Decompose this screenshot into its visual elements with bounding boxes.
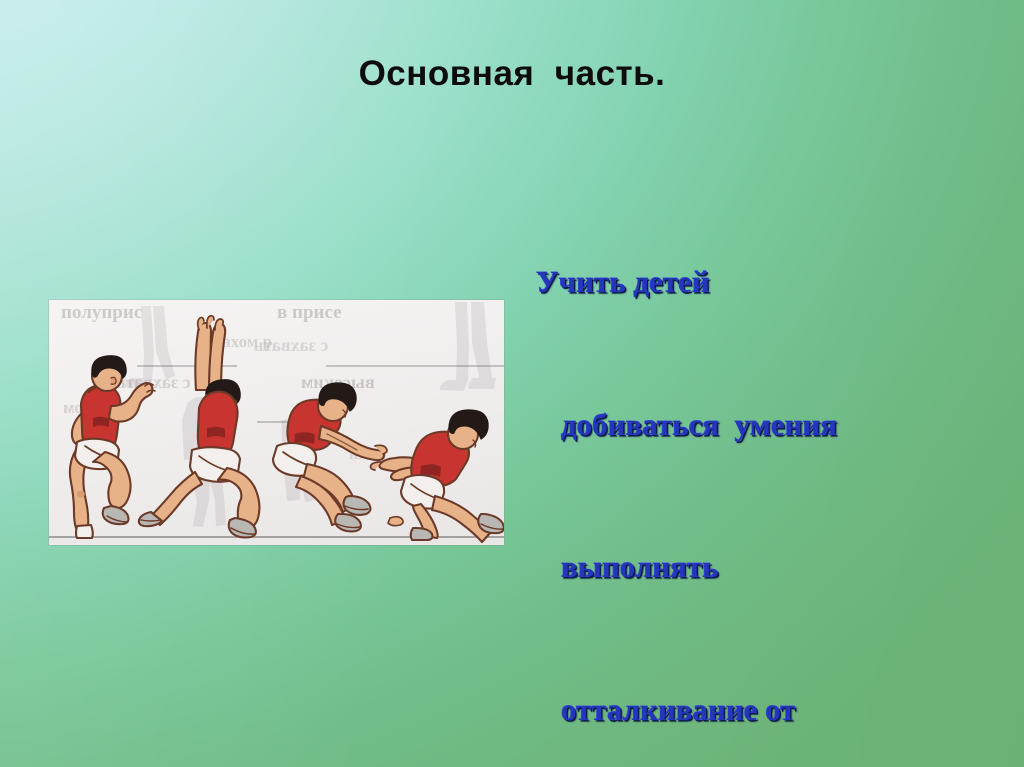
long-jump-figures-drawing (49, 300, 504, 545)
figure-4-front-hand-tip (388, 517, 403, 526)
figure-3-flight (273, 383, 387, 532)
body-line-4: отталкивание от (522, 686, 1022, 734)
body-line-1: Учить детей (522, 258, 1022, 306)
slide-title: Основная часть. (0, 54, 1024, 94)
presentation-slide: Основная часть. полуприс в присе с махом… (0, 0, 1024, 767)
body-line-3: выполнять (522, 543, 1022, 591)
long-jump-illustration: полуприс в присе с махом р высоким с зах… (49, 300, 504, 545)
slide-body-text: Учить детей добиваться умения выполнять … (522, 163, 1022, 767)
body-line-2: добиваться умения (522, 401, 1022, 449)
